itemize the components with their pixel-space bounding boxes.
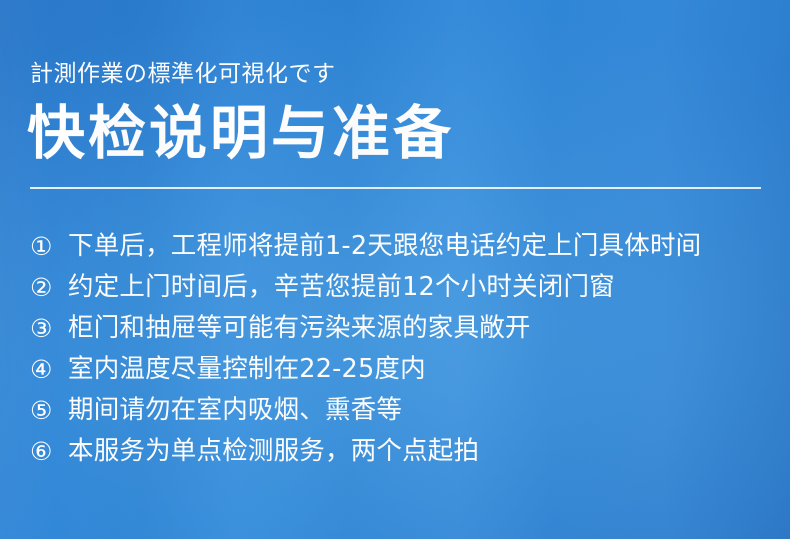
instruction-list: ① 下单后，工程师将提前1-2天跟您电话约定上门具体时间 ② 约定上门时间后，辛… bbox=[30, 226, 775, 472]
list-item-text: 柜门和抽屉等可能有污染来源的家具敞开 bbox=[68, 314, 775, 343]
list-item: ③ 柜门和抽屉等可能有污染来源的家具敞开 bbox=[30, 308, 775, 349]
title-divider bbox=[30, 187, 761, 189]
circled-number-icon: ② bbox=[30, 275, 68, 300]
list-item-text: 期间请勿在室内吸烟、熏香等 bbox=[68, 396, 775, 425]
list-item: ① 下单后，工程师将提前1-2天跟您电话约定上门具体时间 bbox=[30, 226, 775, 267]
circled-number-icon: ③ bbox=[30, 316, 68, 341]
circled-number-icon: ① bbox=[30, 234, 68, 259]
list-item: ④ 室内温度尽量控制在22-25度内 bbox=[30, 349, 775, 390]
list-item-text: 约定上门时间后，辛苦您提前12个小时关闭门窗 bbox=[68, 273, 775, 302]
circled-number-icon: ⑥ bbox=[30, 439, 68, 464]
list-item-text: 室内温度尽量控制在22-25度内 bbox=[68, 355, 775, 384]
circled-number-icon: ⑤ bbox=[30, 398, 68, 423]
list-item: ⑤ 期间请勿在室内吸烟、熏香等 bbox=[30, 390, 775, 431]
list-item: ② 约定上门时间后，辛苦您提前12个小时关闭门窗 bbox=[30, 267, 775, 308]
poster-title: 快检说明与准备 bbox=[27, 104, 454, 162]
list-item-text: 本服务为单点检测服务，两个点起拍 bbox=[68, 437, 775, 466]
list-item: ⑥ 本服务为单点检测服务，两个点起拍 bbox=[30, 431, 775, 472]
poster-subtitle: 計測作業の標準化可視化です bbox=[30, 63, 336, 86]
circled-number-icon: ④ bbox=[30, 357, 68, 382]
promo-poster: 計測作業の標準化可視化です 快检说明与准备 ① 下单后，工程师将提前1-2天跟您… bbox=[0, 0, 790, 539]
list-item-text: 下单后，工程师将提前1-2天跟您电话约定上门具体时间 bbox=[68, 232, 775, 261]
